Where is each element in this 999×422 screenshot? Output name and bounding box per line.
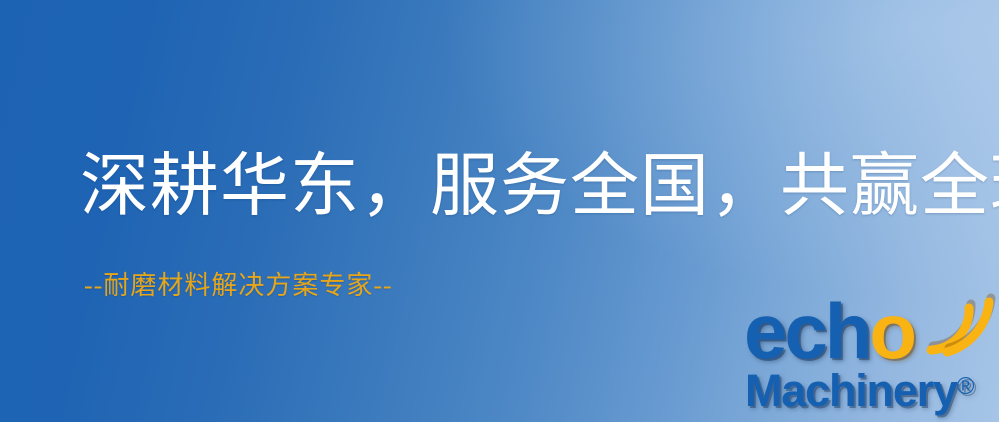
echo-machinery-logo[interactable]: echo Machinery®	[742, 296, 994, 420]
promo-banner: 深耕华东，服务全国，共赢全球 --耐磨材料解决方案专家-- echo Machi…	[0, 0, 999, 422]
logo-brand-o-letter: o	[869, 287, 914, 375]
registered-trademark-icon: ®	[957, 373, 975, 400]
logo-machinery-word: Machinery	[745, 365, 957, 416]
logo-brand-prefix: ech	[744, 287, 869, 375]
logo-brand-text: echo	[744, 292, 914, 370]
logo-wordmark: echo	[742, 296, 994, 374]
logo-subtitle-text: Machinery®	[745, 368, 974, 413]
signal-wave-icon	[923, 294, 993, 356]
banner-subtitle: --耐磨材料解决方案专家--	[84, 265, 393, 302]
banner-headline: 深耕华东，服务全国，共赢全球	[80, 150, 999, 222]
